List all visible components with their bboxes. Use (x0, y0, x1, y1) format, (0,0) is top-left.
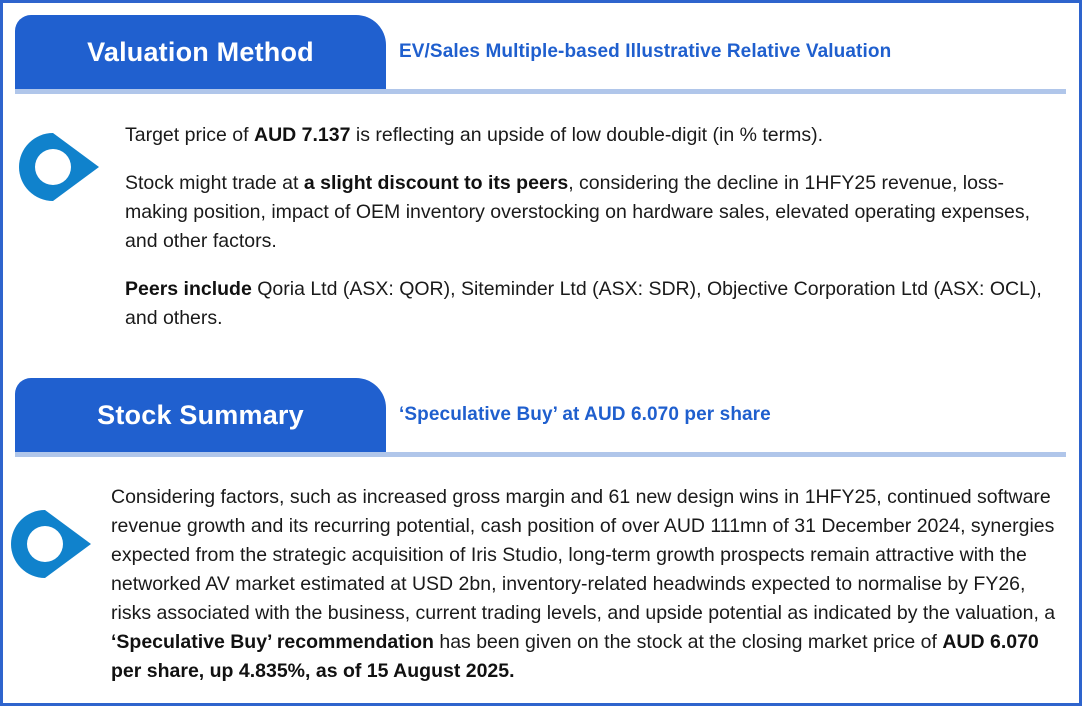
stock-summary-tab-label: Stock Summary (97, 402, 304, 429)
body-text: has been given on the stock at the closi… (434, 631, 942, 653)
emphasised-text: a slight discount to its peers (304, 172, 568, 194)
paragraph: Considering factors, such as increased g… (111, 483, 1056, 686)
paragraph: Peers include Qoria Ltd (ASX: QOR), Site… (125, 275, 1050, 333)
teardrop-bullet-icon (17, 131, 103, 203)
stock-summary-body: Considering factors, such as increased g… (111, 483, 1056, 686)
teardrop-bullet-icon (9, 508, 95, 580)
valuation-method-subtitle: EV/Sales Multiple-based Illustrative Rel… (399, 15, 891, 89)
emphasised-text: AUD 7.137 (254, 124, 350, 146)
emphasised-text: ‘Speculative Buy’ recommendation (111, 631, 434, 653)
emphasised-text: Peers include (125, 278, 252, 300)
body-text: Stock might trade at (125, 172, 304, 194)
body-text: Qoria Ltd (ASX: QOR), Siteminder Ltd (AS… (125, 278, 1042, 329)
valuation-method-header: Valuation Method EV/Sales Multiple-based… (3, 15, 1079, 94)
valuation-method-tab[interactable]: Valuation Method (15, 15, 386, 89)
valuation-method-divider (15, 89, 1066, 94)
stock-summary-subtitle: ‘Speculative Buy’ at AUD 6.070 per share (399, 378, 771, 452)
valuation-method-body: Target price of AUD 7.137 is reflecting … (125, 121, 1050, 333)
paragraph: Target price of AUD 7.137 is reflecting … (125, 121, 1050, 150)
stock-summary-divider (15, 452, 1066, 457)
stock-summary-tab[interactable]: Stock Summary (15, 378, 386, 452)
report-card: Valuation Method EV/Sales Multiple-based… (0, 0, 1082, 706)
body-text: Considering factors, such as increased g… (111, 486, 1055, 624)
paragraph: Stock might trade at a slight discount t… (125, 169, 1050, 256)
valuation-method-tab-label: Valuation Method (87, 39, 314, 66)
stock-summary-header: Stock Summary ‘Speculative Buy’ at AUD 6… (3, 378, 1079, 457)
body-text: Target price of (125, 124, 254, 146)
body-text: is reflecting an upside of low double-di… (350, 124, 823, 146)
